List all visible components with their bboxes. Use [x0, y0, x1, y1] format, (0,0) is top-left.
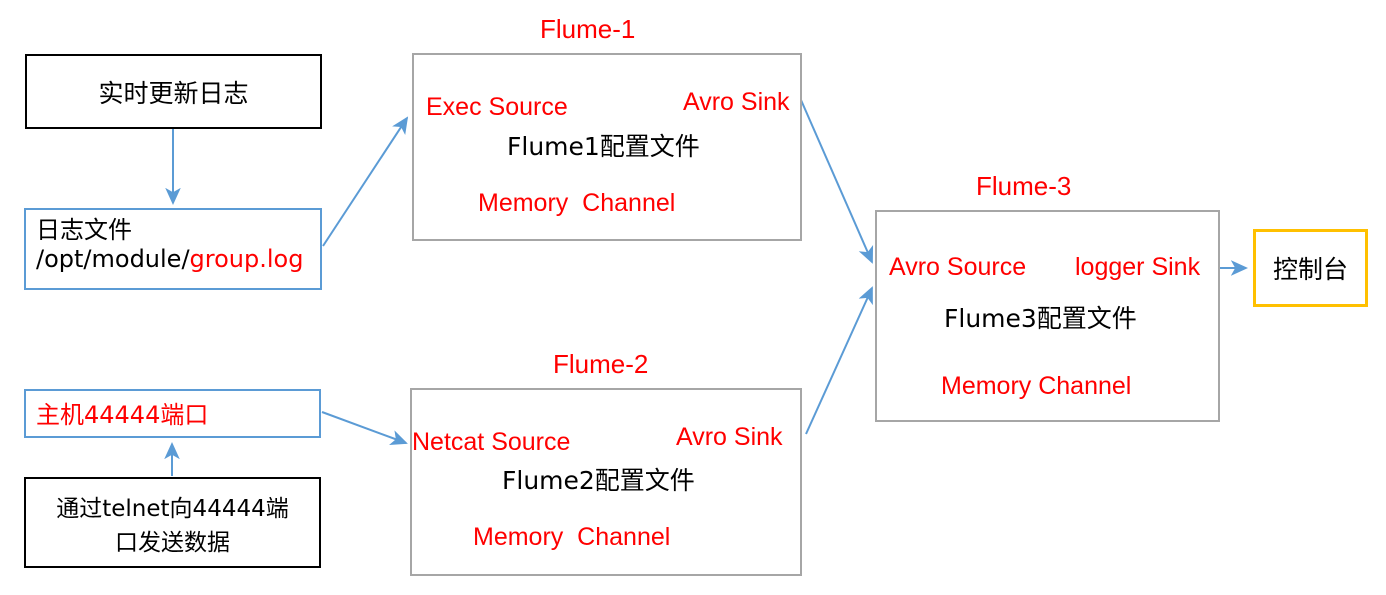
agent-flume2-sink-label: Avro Sink — [676, 423, 783, 453]
node-log-file-path: /opt/module/ — [36, 245, 190, 273]
agent-flume2-config-label: Flume2配置文件 — [502, 466, 695, 496]
connector-flume2-to-flume3 — [806, 288, 872, 434]
node-log-file-filename: group.log — [190, 245, 304, 273]
node-console[interactable]: 控制台 — [1253, 229, 1368, 307]
agent-flume3-source-label: Avro Source — [889, 253, 1026, 283]
agent-flume3-channel-label: Memory Channel — [941, 372, 1131, 402]
node-console-label: 控制台 — [1273, 250, 1348, 286]
connector-flume1-to-flume3 — [801, 100, 872, 262]
node-log-file-line2: /opt/module/group.log — [36, 245, 320, 274]
node-telnet-send-line2: 口发送数据 — [115, 523, 230, 557]
node-log-file-line1: 日志文件 — [36, 216, 320, 245]
agent-flume3-sink-label: logger Sink — [1075, 253, 1200, 283]
agent-flume1-config-label: Flume1配置文件 — [507, 132, 700, 162]
node-telnet-send[interactable]: 通过telnet向44444端 口发送数据 — [24, 477, 321, 568]
diagram-canvas: 实时更新日志 日志文件 /opt/module/group.log 主机4444… — [0, 0, 1386, 595]
node-host-port[interactable]: 主机44444端口 — [24, 389, 321, 438]
connector-hostport-to-flume2 — [322, 412, 406, 443]
agent-flume1-sink-label: Avro Sink — [683, 88, 790, 118]
node-telnet-send-line1: 通过telnet向44444端 — [56, 489, 288, 523]
connector-logfile-to-flume1 — [323, 118, 407, 246]
agent-flume3-title: Flume-3 — [976, 171, 1071, 202]
agent-flume2-channel-label: Memory Channel — [473, 523, 670, 553]
agent-flume2-source-label: Netcat Source — [412, 428, 570, 458]
agent-flume1-title: Flume-1 — [540, 14, 635, 45]
agent-flume1-source-label: Exec Source — [426, 93, 568, 123]
agent-flume3-config-label: Flume3配置文件 — [944, 304, 1137, 334]
node-realtime-log[interactable]: 实时更新日志 — [25, 54, 322, 129]
agent-flume1-channel-label: Memory Channel — [478, 189, 675, 219]
node-host-port-label: 主机44444端口 — [36, 401, 208, 429]
node-log-file[interactable]: 日志文件 /opt/module/group.log — [24, 208, 322, 290]
agent-flume2-title: Flume-2 — [553, 349, 648, 380]
node-realtime-log-label: 实时更新日志 — [98, 74, 248, 110]
